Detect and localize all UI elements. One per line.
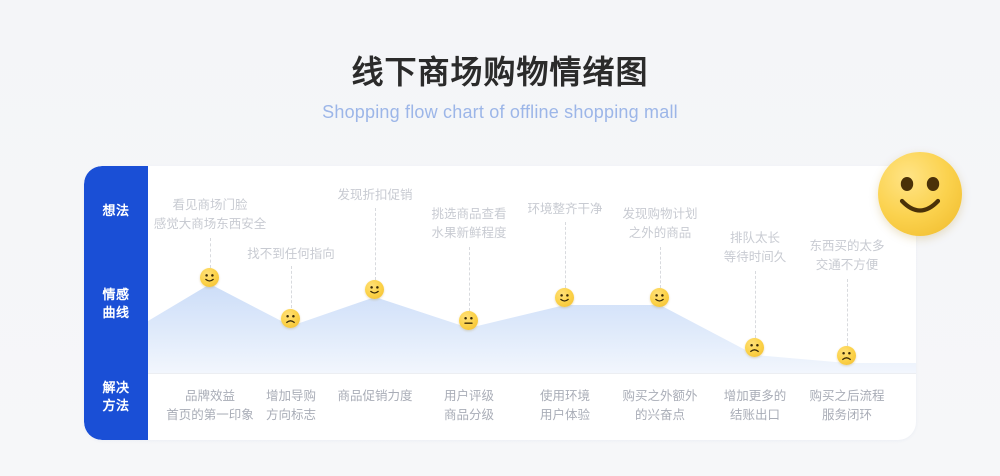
solution-label-3-line2: 商品分级 xyxy=(414,406,524,425)
smiley-sad-icon xyxy=(837,346,856,365)
thought-label-7-line2: 交通不方便 xyxy=(792,256,902,275)
emoji-marker-1[interactable] xyxy=(281,309,300,328)
solution-label-3-line1: 用户评级 xyxy=(414,387,524,406)
emoji-marker-5[interactable] xyxy=(650,288,669,307)
thought-label-2-line1: 发现折扣促销 xyxy=(320,186,430,205)
smiley-happy-icon xyxy=(555,288,574,307)
smiley-neutral-icon xyxy=(459,311,478,330)
smiley-sad-icon xyxy=(745,338,764,357)
thought-label-4-line1: 环境整齐干净 xyxy=(510,200,620,219)
leader-line-7 xyxy=(847,279,848,346)
rail-label-solutions: 解决 方法 xyxy=(84,379,148,415)
leader-line-4 xyxy=(565,222,566,288)
thought-label-1-line1: 找不到任何指向 xyxy=(236,245,346,264)
thought-label-1: 找不到任何指向 xyxy=(236,245,346,264)
solution-label-7: 购买之后流程 服务闭环 xyxy=(792,387,902,425)
page-title: 线下商场购物情绪图 xyxy=(0,52,1000,92)
solution-label-1-line2: 方向标志 xyxy=(236,406,346,425)
solution-label-5: 购买之外额外 的兴奋点 xyxy=(605,387,715,425)
leader-line-5 xyxy=(660,247,661,288)
solution-label-4-line1: 使用环境 xyxy=(510,387,620,406)
rail-label-emotion-curve: 情感 曲线 xyxy=(84,286,148,322)
smiley-happy-icon xyxy=(650,288,669,307)
emoji-marker-0[interactable] xyxy=(200,268,219,287)
section-divider xyxy=(148,373,916,374)
rail-label-emotion-curve-line1: 情感 xyxy=(84,286,148,304)
leader-line-2 xyxy=(375,208,376,280)
leader-line-6 xyxy=(755,271,756,338)
leader-line-1 xyxy=(291,266,292,308)
leader-line-3 xyxy=(469,247,470,311)
thought-label-5: 发现购物计划 之外的商品 xyxy=(605,205,715,243)
emotion-area-fill xyxy=(148,284,916,373)
page-subtitle: Shopping flow chart of offline shopping … xyxy=(0,98,1000,126)
smiley-happy-large-icon xyxy=(878,152,962,236)
leader-line-0 xyxy=(210,238,211,268)
page-header: 线下商场购物情绪图 Shopping flow chart of offline… xyxy=(0,52,1000,126)
emoji-marker-2[interactable] xyxy=(365,280,384,299)
solution-label-4-line2: 用户体验 xyxy=(510,406,620,425)
solution-label-5-line1: 购买之外额外 xyxy=(605,387,715,406)
rail-label-emotion-curve-line2: 曲线 xyxy=(84,304,148,322)
emoji-marker-4[interactable] xyxy=(555,288,574,307)
smiley-happy-icon xyxy=(200,268,219,287)
thought-label-3-line1: 挑选商品查看 xyxy=(414,205,524,224)
rail-label-solutions-line1: 解决 xyxy=(84,379,148,397)
solution-label-5-line2: 的兴奋点 xyxy=(605,406,715,425)
thought-label-0-line2: 感觉大商场东西安全 xyxy=(135,215,285,234)
decorative-big-smiley xyxy=(878,152,962,236)
rail-label-solutions-line2: 方法 xyxy=(84,397,148,415)
smiley-sad-icon xyxy=(281,309,300,328)
emoji-marker-6[interactable] xyxy=(745,338,764,357)
thought-label-5-line2: 之外的商品 xyxy=(605,224,715,243)
smiley-happy-icon xyxy=(365,280,384,299)
thought-label-0: 看见商场门脸 感觉大商场东西安全 xyxy=(135,196,285,234)
thought-label-4: 环境整齐干净 xyxy=(510,200,620,219)
thought-label-3-line2: 水果新鲜程度 xyxy=(414,224,524,243)
page-background: 线下商场购物情绪图 Shopping flow chart of offline… xyxy=(0,0,1000,476)
thought-label-2: 发现折扣促销 xyxy=(320,186,430,205)
emoji-marker-7[interactable] xyxy=(837,346,856,365)
thought-label-0-line1: 看见商场门脸 xyxy=(135,196,285,215)
solution-label-4: 使用环境 用户体验 xyxy=(510,387,620,425)
thought-label-7: 东西买的太多 交通不方便 xyxy=(792,237,902,275)
thought-label-5-line1: 发现购物计划 xyxy=(605,205,715,224)
solution-label-7-line1: 购买之后流程 xyxy=(792,387,902,406)
thought-label-7-line1: 东西买的太多 xyxy=(792,237,902,256)
thought-label-3: 挑选商品查看 水果新鲜程度 xyxy=(414,205,524,243)
emoji-marker-3[interactable] xyxy=(459,311,478,330)
solution-label-7-line2: 服务闭环 xyxy=(792,406,902,425)
solution-label-3: 用户评级 商品分级 xyxy=(414,387,524,425)
